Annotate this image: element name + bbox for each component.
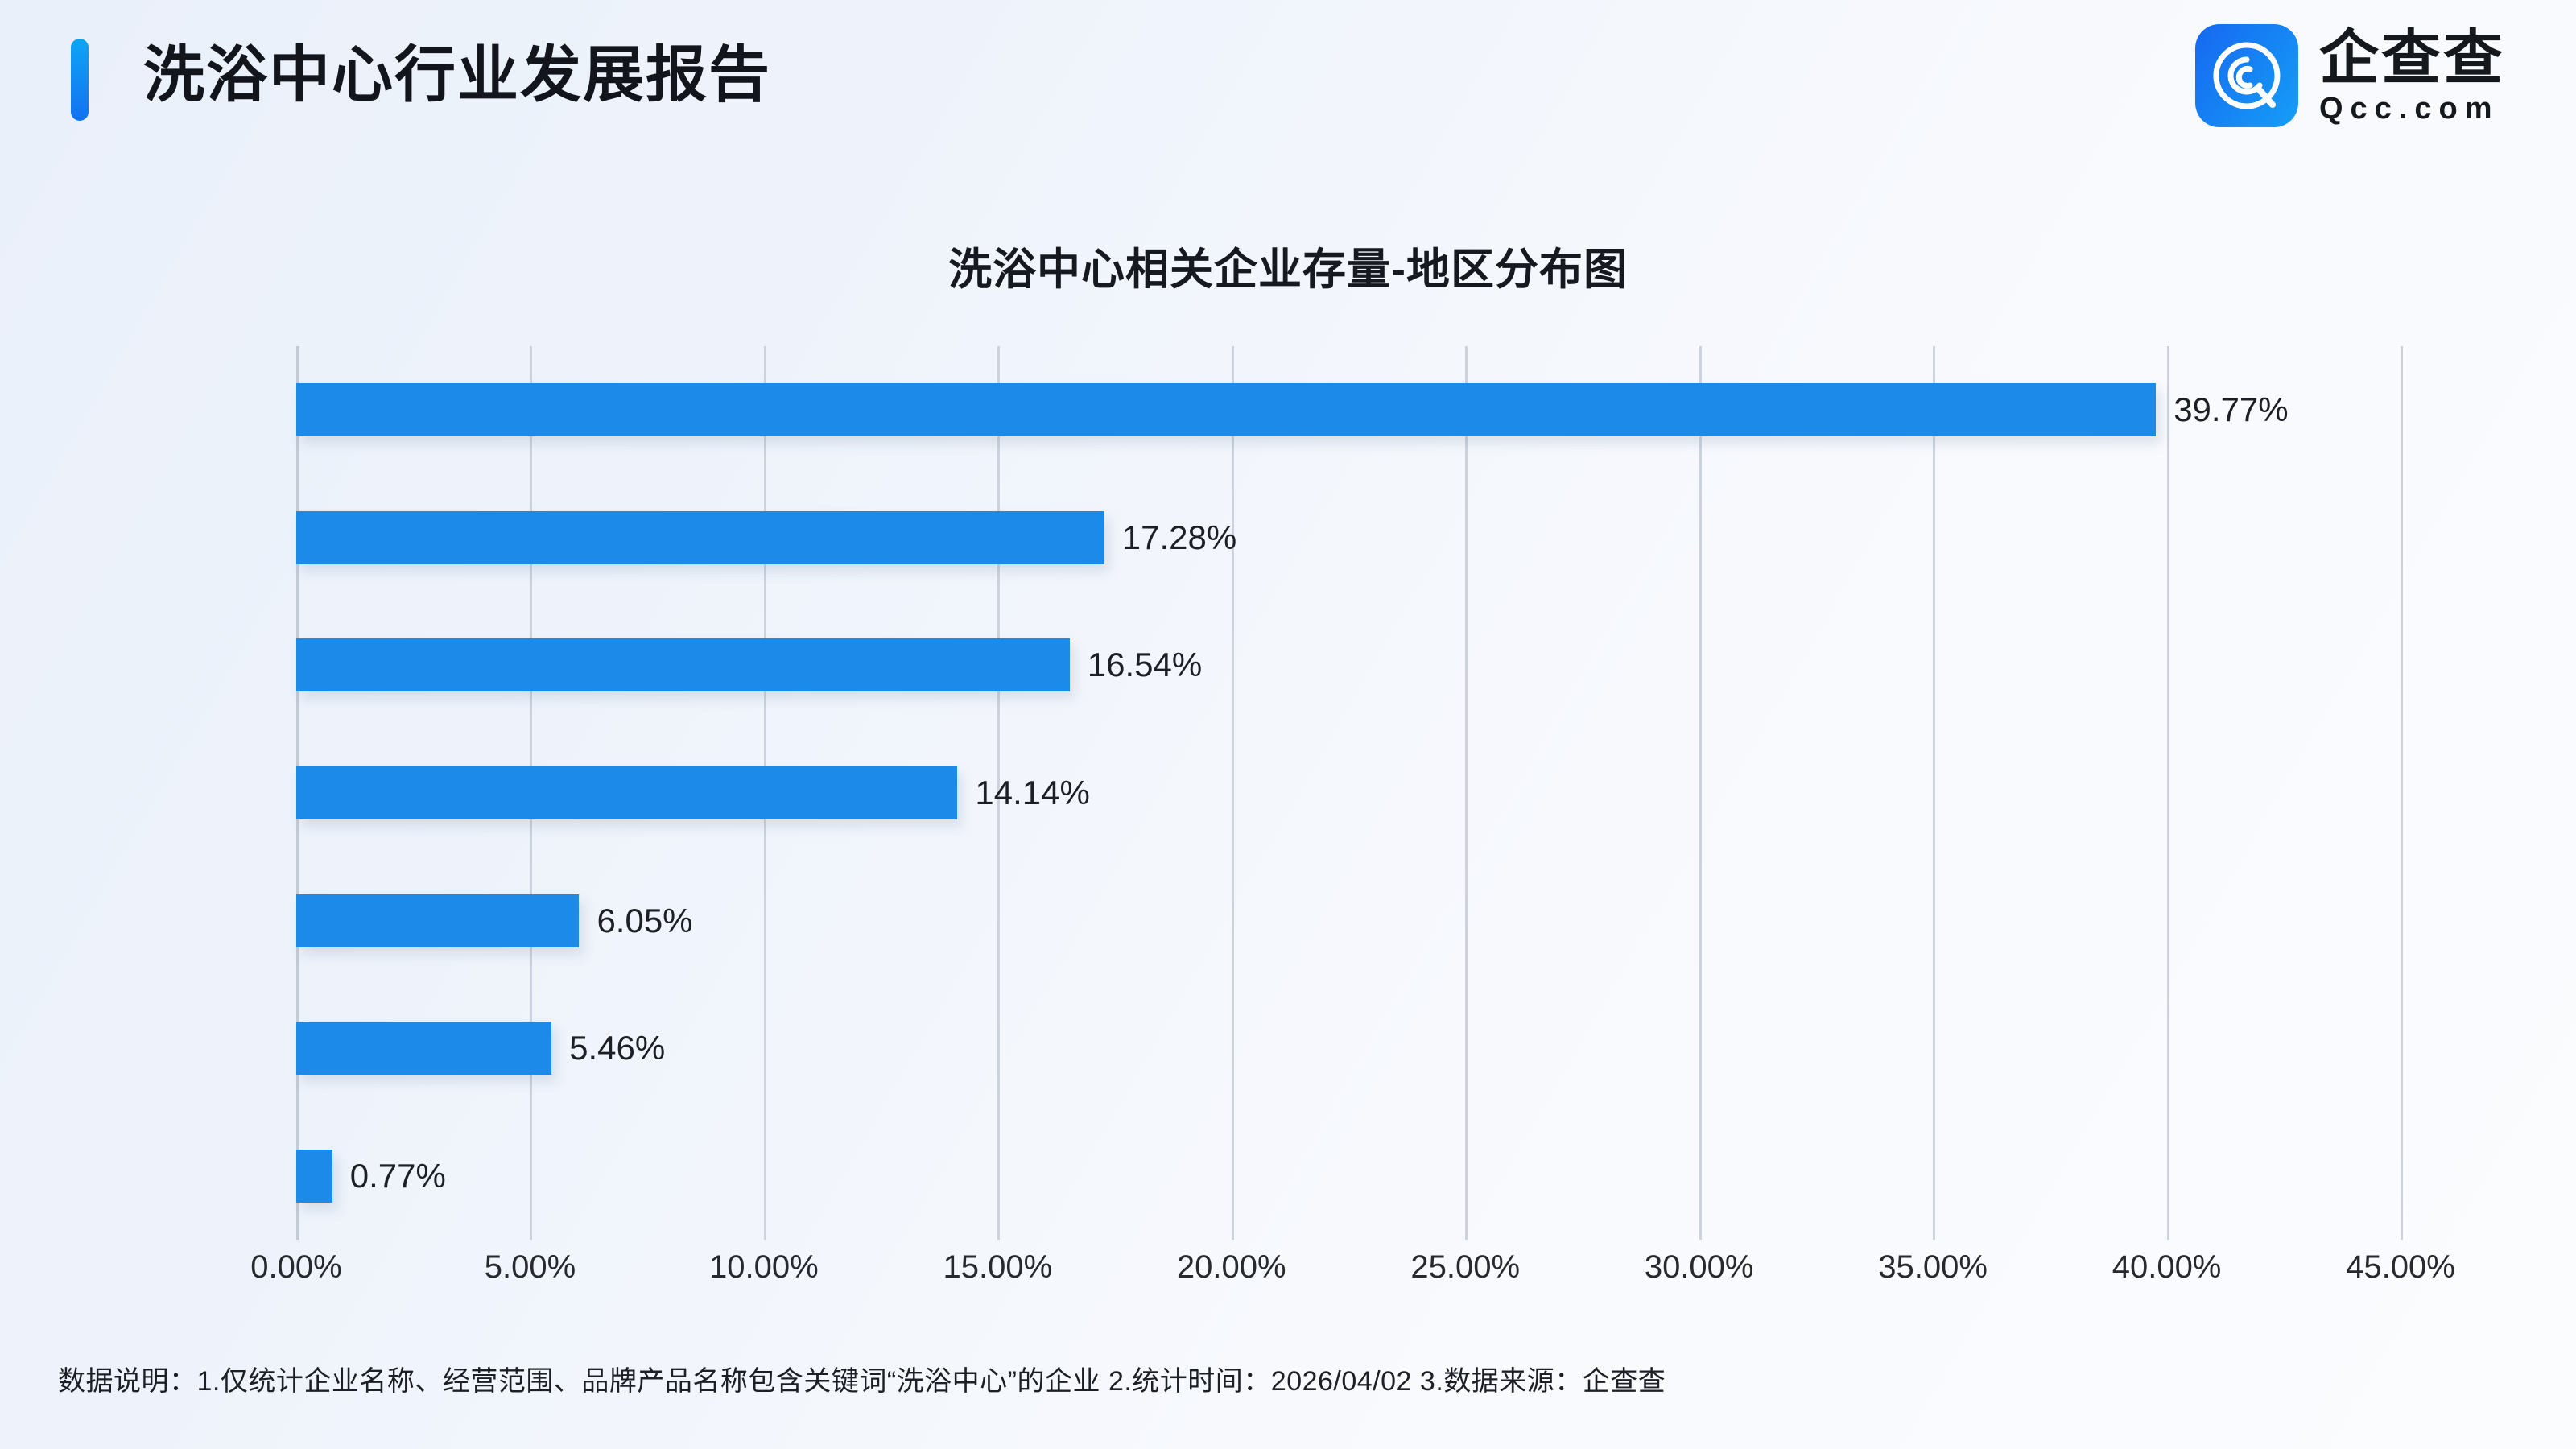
- x-axis-tick-label: 0.00%: [250, 1249, 341, 1286]
- bar-value-label: 39.77%: [2173, 390, 2288, 429]
- brand-text: 企查查 Qcc.com: [2319, 25, 2505, 126]
- gridline: [1465, 346, 1468, 1240]
- gridline: [1933, 346, 1935, 1240]
- title-accent-bar: [71, 39, 89, 121]
- bar-value-label: 0.77%: [350, 1157, 446, 1195]
- chart-plot-area: 0.00%5.00%10.00%15.00%20.00%25.00%30.00%…: [296, 346, 2401, 1240]
- bar[interactable]: [296, 1150, 332, 1203]
- brand-name-cn: 企查查: [2319, 25, 2505, 91]
- bar[interactable]: [296, 511, 1104, 564]
- bar-value-label: 17.28%: [1122, 518, 1236, 557]
- x-axis-tick-label: 20.00%: [1177, 1249, 1286, 1286]
- x-axis-tick-label: 40.00%: [2112, 1249, 2222, 1286]
- chart-title: 洗浴中心相关企业存量-地区分布图: [0, 233, 2576, 297]
- bar[interactable]: [296, 894, 579, 947]
- gridline: [1232, 346, 1234, 1240]
- brand-logo: 企查查 Qcc.com: [2195, 24, 2505, 127]
- x-axis-tick-label: 30.00%: [1645, 1249, 1754, 1286]
- bar[interactable]: [296, 766, 957, 819]
- x-axis-tick-label: 45.00%: [2346, 1249, 2455, 1286]
- report-page: 洗浴中心行业发展报告 企查查 Qcc.com 洗浴中心相关企业存量-地区分布图 …: [0, 0, 2576, 1449]
- x-axis-tick-label: 15.00%: [943, 1249, 1052, 1286]
- x-axis-tick-label: 10.00%: [709, 1249, 819, 1286]
- x-axis-tick-label: 25.00%: [1410, 1249, 1520, 1286]
- x-axis-tick-label: 5.00%: [485, 1249, 576, 1286]
- bar[interactable]: [296, 638, 1070, 691]
- brand-name-en: Qcc.com: [2319, 91, 2500, 126]
- gridline: [1699, 346, 1702, 1240]
- qcc-at-q-mark-icon: [2195, 24, 2298, 127]
- page-title: 洗浴中心行业发展报告: [143, 31, 771, 121]
- bar-value-label: 16.54%: [1088, 646, 1202, 684]
- bar-value-label: 14.14%: [975, 774, 1089, 812]
- bar[interactable]: [296, 383, 2156, 436]
- footnote: 数据说明：1.仅统计企业名称、经营范围、品牌产品名称包含关键词“洗浴中心”的企业…: [58, 1359, 1666, 1398]
- page-header: 洗浴中心行业发展报告 企查查 Qcc.com: [0, 0, 2576, 193]
- bar-value-label: 6.05%: [597, 902, 692, 940]
- gridline: [2401, 346, 2403, 1240]
- bar[interactable]: [296, 1022, 551, 1075]
- bar-value-label: 5.46%: [569, 1029, 665, 1067]
- x-axis-tick-label: 35.00%: [1878, 1249, 1988, 1286]
- gridline: [2167, 346, 2169, 1240]
